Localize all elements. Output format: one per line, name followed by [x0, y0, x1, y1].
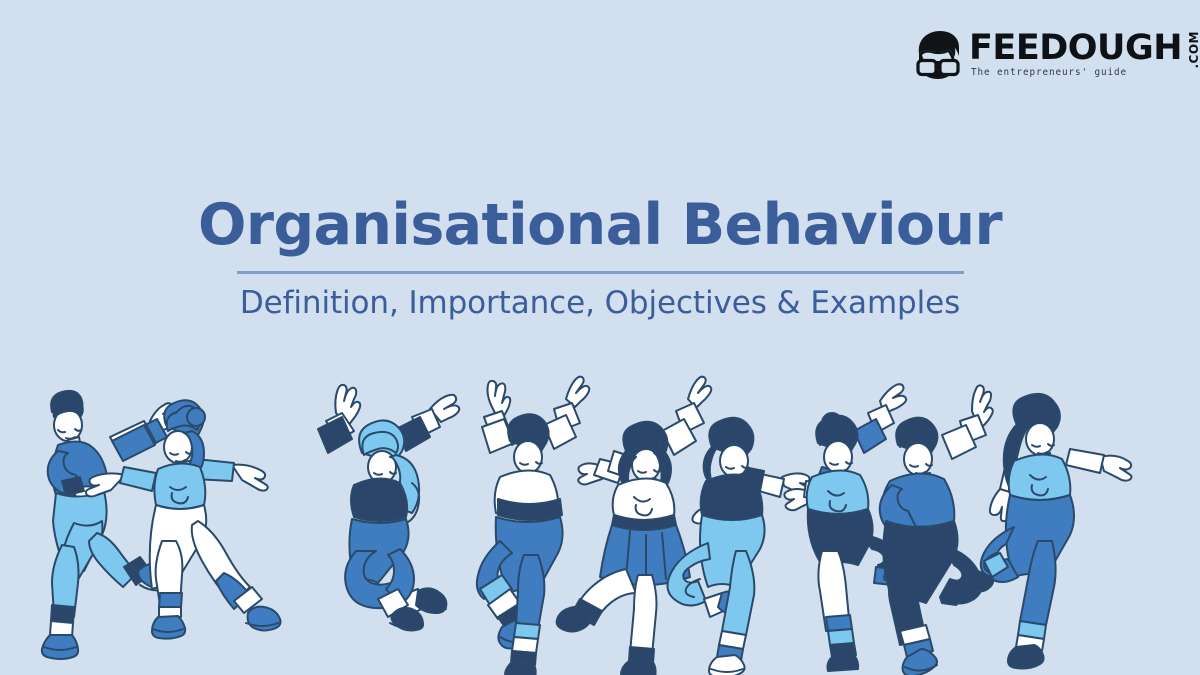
logo-tagline: The entrepreneurs' guide	[971, 67, 1182, 78]
figure-6	[667, 418, 809, 675]
page-subtitle: Definition, Importance, Objectives & Exa…	[0, 286, 1200, 320]
figure-9	[966, 394, 1132, 669]
bespectacled-face-icon	[909, 30, 967, 82]
dancing-people-illustration	[0, 355, 1200, 675]
page-title: Organisational Behaviour	[0, 196, 1200, 256]
logo-domain-suffix: .COM	[1187, 31, 1200, 69]
feedough-logo[interactable]: FEEDOUGH The entrepreneurs' guide .COM	[909, 30, 1182, 88]
logo-wordmark: FEEDOUGH	[969, 32, 1182, 65]
poster-canvas: FEEDOUGH The entrepreneurs' guide .COM O…	[0, 0, 1200, 675]
title-divider	[237, 271, 964, 274]
logo-text-block: FEEDOUGH The entrepreneurs' guide .COM	[969, 30, 1182, 78]
figure-8	[880, 385, 993, 675]
figure-3	[318, 385, 459, 631]
hero-title-block: Organisational Behaviour Definition, Imp…	[0, 196, 1200, 320]
